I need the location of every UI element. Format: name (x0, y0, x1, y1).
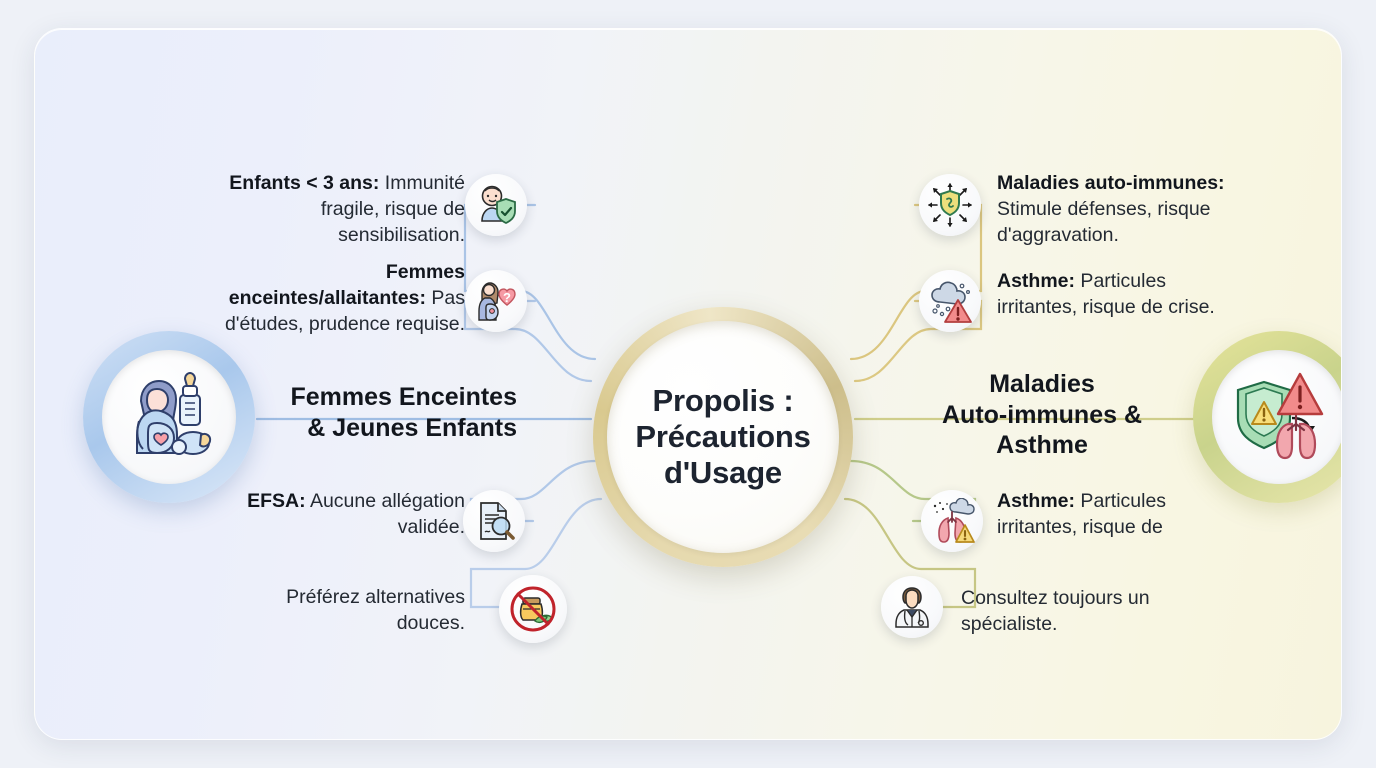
leaf-text-left-0: Enfants < 3 ans: Immunité fragile, risqu… (215, 171, 465, 249)
infographic-canvas: Propolis : Précautions d'Usage (0, 0, 1376, 768)
leaf-text-right-3: Consultez toujours un spécialiste. (961, 586, 1191, 638)
leaf-text-left-3: Préférez alternatives douces. (235, 585, 465, 637)
no-honey-jar-leaf-icon (509, 585, 557, 633)
shield-immune-burst-icon (927, 182, 973, 228)
leaf-bold-left-2: EFSA: (247, 490, 306, 512)
leaf-icon-left-0[interactable] (465, 174, 527, 236)
pregnant-woman-baby-bottle-pacifier-icon (117, 365, 221, 469)
lungs-pollution-warning-icon (929, 498, 975, 544)
branch-label-right: Maladies Auto-immunes & Asthme (923, 369, 1161, 461)
leaf-icon-left-2[interactable] (463, 490, 525, 552)
branch-node-right-disc (1212, 350, 1342, 484)
leaf-body-left-2: Aucune allégation validée. (306, 490, 465, 538)
leaf-body-right-3: Consultez toujours un spécialiste. (961, 587, 1150, 635)
central-node-inner: Propolis : Précautions d'Usage (607, 321, 839, 553)
leaf-bold-left-0: Enfants < 3 ans: (229, 172, 379, 194)
baby-shield-icon (474, 183, 518, 227)
leaf-icon-left-1[interactable]: ? (465, 270, 527, 332)
leaf-icon-right-0[interactable] (919, 174, 981, 236)
document-magnifier-icon (472, 499, 516, 543)
leaf-icon-right-1[interactable] (919, 270, 981, 332)
leaf-icon-right-3[interactable] (881, 576, 943, 638)
leaf-text-right-1: Asthme: Particules irritantes, risque de… (997, 269, 1227, 321)
leaf-bold-right-1: Asthme: (997, 270, 1075, 292)
shield-warning-lungs-icon (1226, 364, 1332, 470)
leaf-body-left-3: Préférez alternatives douces. (286, 586, 465, 634)
leaf-text-left-1: Femmes enceintes/allaitantes: Pas d'étud… (215, 260, 465, 338)
leaf-text-left-2: EFSA: Aucune allégation validée. (245, 489, 465, 541)
leaf-icon-left-3[interactable] (499, 575, 567, 643)
infographic-card: Propolis : Précautions d'Usage (34, 28, 1342, 740)
leaf-text-right-0: Maladies auto-immunes: Stimule défenses,… (997, 171, 1247, 249)
branch-node-right[interactable] (1193, 331, 1342, 503)
central-title: Propolis : Précautions d'Usage (635, 383, 810, 492)
doctor-icon (890, 585, 934, 629)
branch-label-left: Femmes Enceintes & Jeunes Enfants (225, 382, 517, 443)
leaf-text-right-2: Asthme: Particules irritantes, risque de (997, 489, 1237, 541)
pregnant-woman-heart-question-icon: ? (474, 279, 518, 323)
leaf-bold-right-0: Maladies auto-immunes: (997, 172, 1225, 194)
dust-cloud-warning-icon (927, 278, 973, 324)
leaf-bold-right-2: Asthme: (997, 490, 1075, 512)
central-node[interactable]: Propolis : Précautions d'Usage (593, 307, 853, 567)
leaf-body-right-0: Stimule défenses, risque d'aggravation. (997, 198, 1211, 246)
svg-text:?: ? (503, 290, 511, 305)
leaf-icon-right-2[interactable] (921, 490, 983, 552)
branch-node-left-disc (102, 350, 236, 484)
